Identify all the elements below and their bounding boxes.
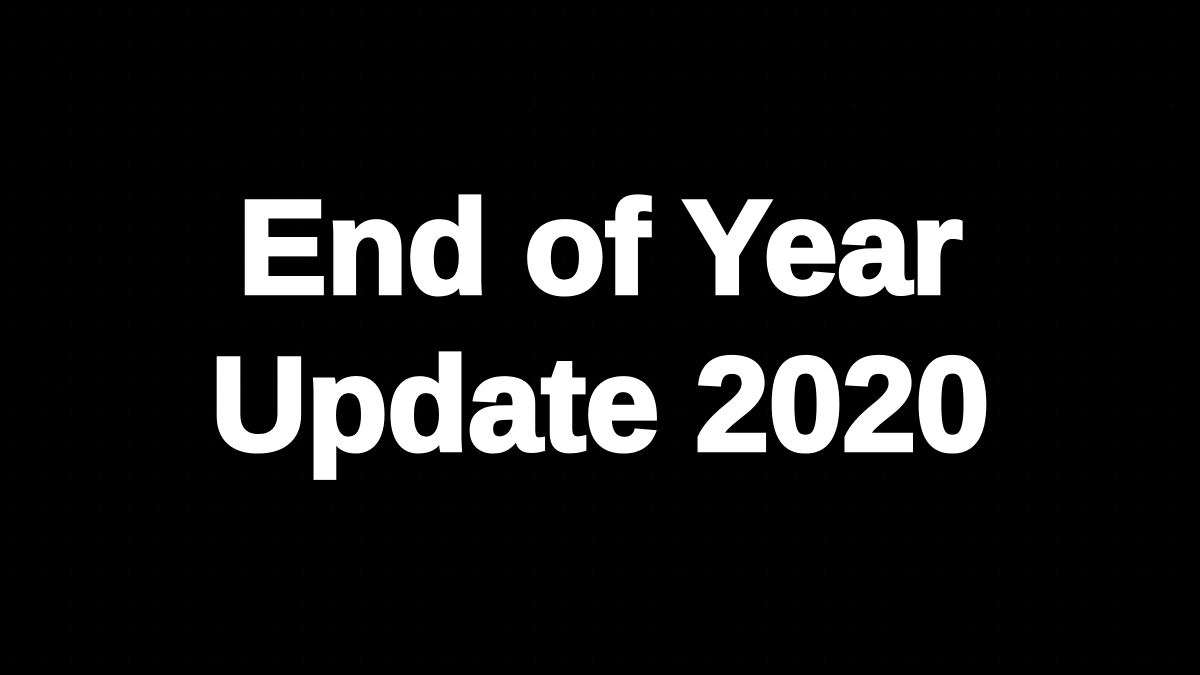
title-line-2: Update 2020 [211, 335, 989, 476]
title-slide: End of Year Update 2020 [0, 0, 1200, 675]
title-block: End of Year Update 2020 [0, 0, 1200, 675]
title-line-1: End of Year [238, 178, 962, 319]
